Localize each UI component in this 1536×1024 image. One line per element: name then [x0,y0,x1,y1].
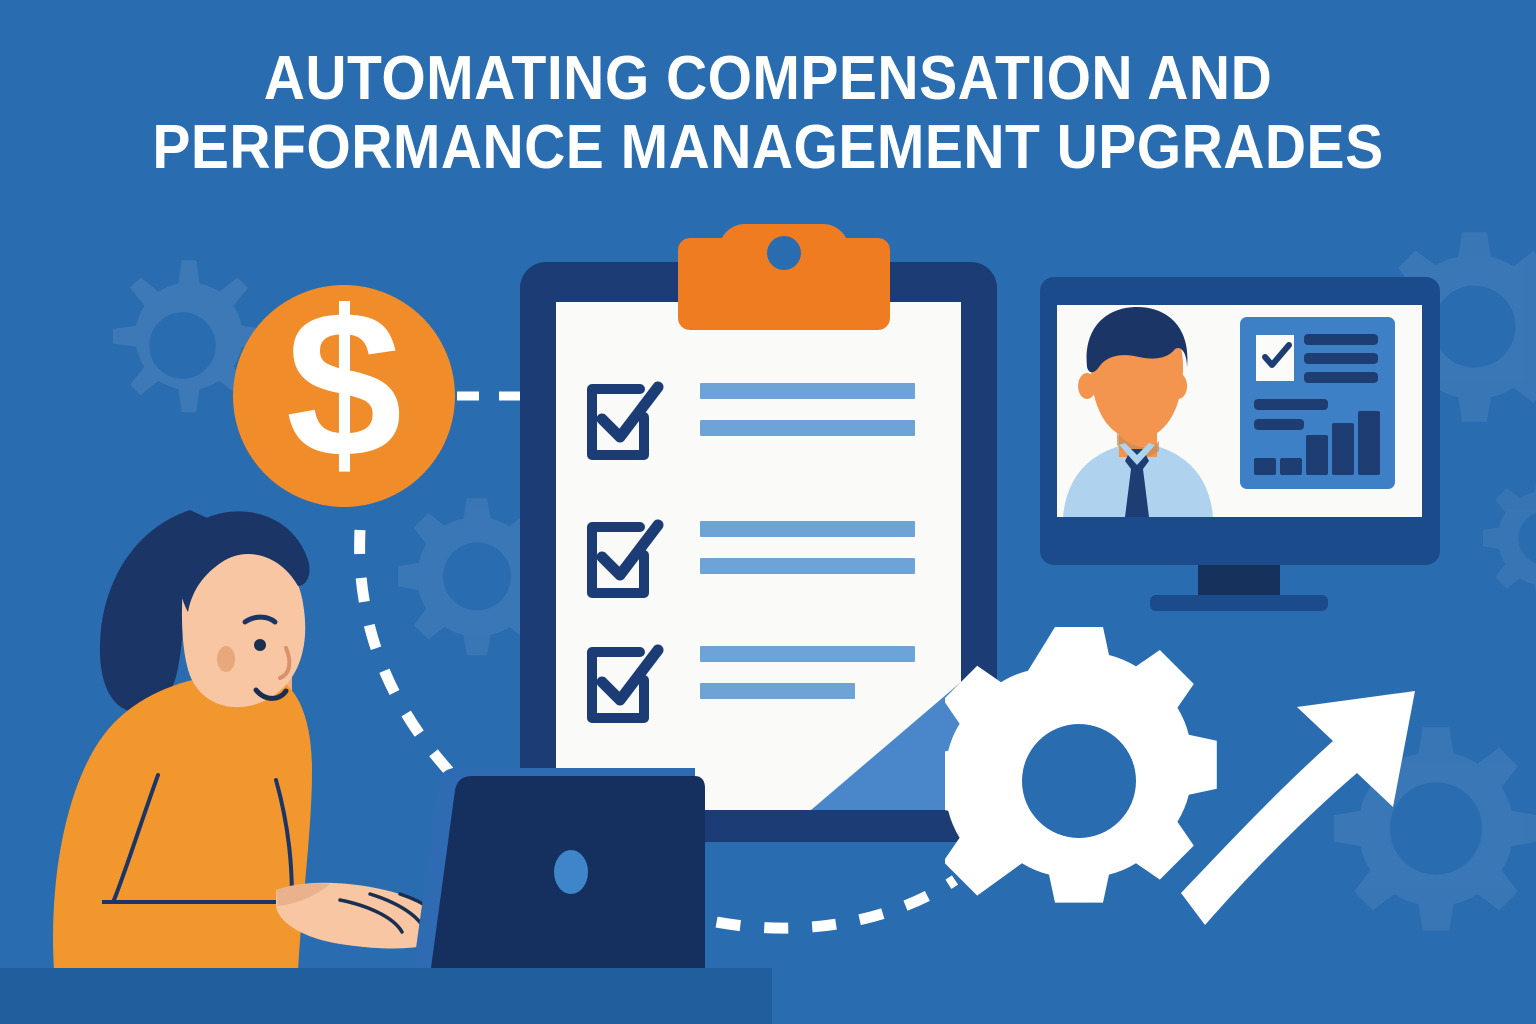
chart-bar [1254,458,1276,475]
checkbox-checked-icon[interactable] [582,377,668,467]
svg-text:$: $ [286,301,402,491]
poster-canvas: AUTOMATING COMPENSATION AND PERFORMANCE … [0,0,1536,1024]
chart-bar [1358,411,1380,475]
laptop [395,760,745,990]
page-title: AUTOMATING COMPENSATION AND PERFORMANCE … [61,44,1474,183]
page-title-line-1: AUTOMATING COMPENSATION AND [61,44,1474,113]
performance-bar-chart [1254,397,1382,475]
checklist-line [700,521,915,537]
card-line [1304,372,1378,383]
chart-label-line [1254,419,1304,430]
desk-surface [0,968,772,1024]
checklist-line [700,683,855,699]
checkbox-checked-icon[interactable] [582,640,668,730]
checklist-line [700,646,915,662]
checklist-line [700,558,915,574]
sweater [53,674,312,970]
performance-card [1240,317,1395,489]
employee-avatar [1057,305,1217,517]
checkbox-checked-icon[interactable] [582,515,668,605]
avatar-ear-left [1078,373,1096,399]
bg-gear-right-edge [1478,468,1536,603]
checklist-clipboard [520,262,997,842]
page-title-line-2: PERFORMANCE MANAGEMENT UPGRADES [61,113,1474,182]
chart-label-line [1254,399,1328,410]
checklist-row [582,515,912,609]
monitor-frame [1040,277,1440,565]
checklist-row-lines [700,383,915,457]
checklist-row-lines [700,646,915,720]
automation-growth-graphic [945,585,1465,945]
checklist-row [582,640,912,734]
card-line [1304,353,1378,364]
card-text-lines [1304,334,1378,391]
chart-bar [1306,435,1328,475]
growth-arrow-icon [1181,691,1415,925]
card-line [1304,334,1378,345]
monitor-screen [1057,305,1422,517]
eye [254,639,266,651]
avatar-ear-right [1169,373,1187,399]
checklist-row [582,377,912,471]
ear [217,646,235,672]
clipboard-clip-hole [767,236,801,270]
checklist-line [700,383,915,399]
automation-gear-icon [945,627,1217,903]
chart-bar [1332,423,1354,475]
checklist-row-lines [700,521,915,595]
card-checkbox-icon [1256,335,1294,381]
employee-profile-monitor [1040,277,1440,617]
laptop-logo [554,850,588,894]
chart-bar [1280,458,1302,475]
checklist-line [700,420,915,436]
